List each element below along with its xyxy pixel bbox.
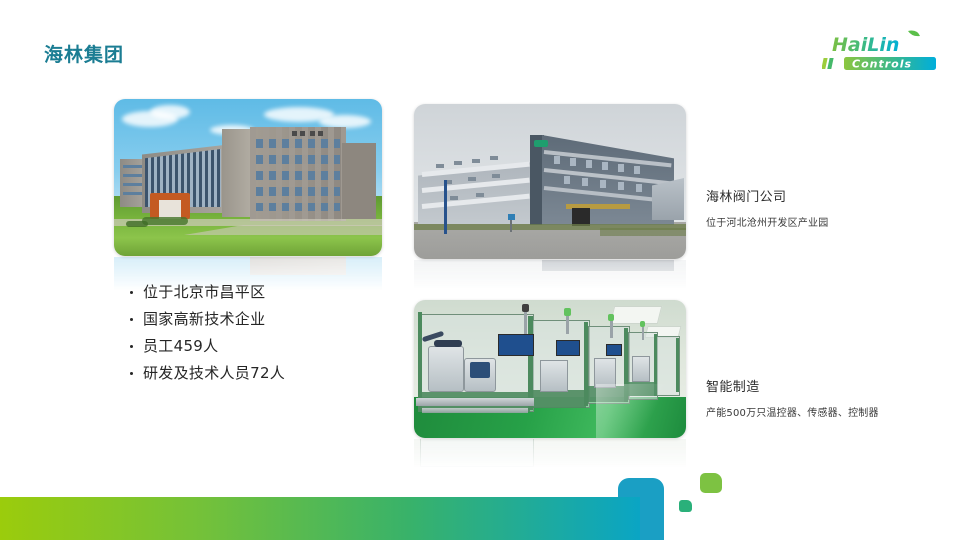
list-item: 员工459人 xyxy=(130,339,430,354)
photo-valve-factory-reflection xyxy=(414,260,686,302)
caption-smart-manufacturing: 智能制造 产能500万只温控器、传感器、控制器 xyxy=(706,376,886,422)
caption-valve-company: 海林阀门公司 位于河北沧州开发区产业园 xyxy=(706,186,906,232)
caption-subtext: 位于河北沧州开发区产业园 xyxy=(706,217,906,232)
photo-production-line-reflection xyxy=(414,439,686,481)
footer-square-teal xyxy=(679,500,692,512)
list-item: 国家高新技术企业 xyxy=(130,312,430,327)
list-item: 位于北京市昌平区 xyxy=(130,285,430,300)
caption-heading: 海林阀门公司 xyxy=(706,186,906,205)
slide-root: 海林集团 HaiLin xyxy=(0,0,960,540)
photo-valve-factory xyxy=(414,104,686,259)
photo-production-line xyxy=(414,300,686,438)
page-title: 海林集团 xyxy=(44,40,124,67)
footer-gradient-band xyxy=(0,497,640,540)
svg-text:Controls: Controls xyxy=(852,58,912,71)
svg-text:HaiLin: HaiLin xyxy=(832,34,899,56)
caption-heading: 智能制造 xyxy=(706,376,886,395)
photo-office-building xyxy=(114,99,382,256)
company-facts-list: 位于北京市昌平区 国家高新技术企业 员工459人 研发及技术人员72人 xyxy=(130,285,430,393)
hailin-controls-logo: HaiLin Controls xyxy=(822,28,942,76)
footer-square-green xyxy=(700,473,722,493)
list-item: 研发及技术人员72人 xyxy=(130,366,430,381)
caption-subtext: 产能500万只温控器、传感器、控制器 xyxy=(706,407,886,422)
